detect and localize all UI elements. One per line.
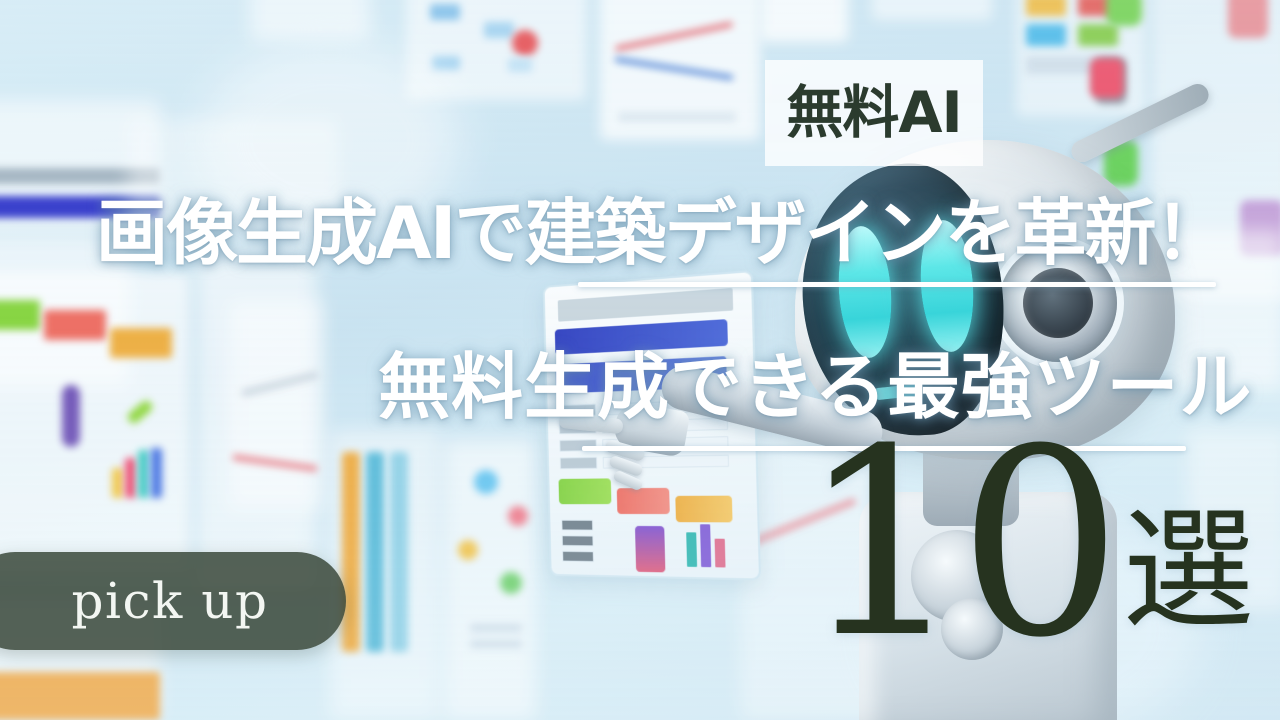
bg-panel [228,300,324,510]
bg-node [432,56,460,70]
bg-widget [1090,58,1124,98]
bg-node [484,22,514,38]
headline-line-1: 画像生成AIで建築デザインを革新！ [96,197,1225,269]
bg-widget [1026,24,1066,46]
bg-node [500,572,522,594]
bg-node [458,540,478,560]
bg-row [342,452,360,652]
category-tag: 無料AI [765,60,983,166]
pickup-badge-label: pick up [72,576,269,626]
count-badge-number: 10 [800,436,1116,653]
bg-panel [250,0,370,40]
bg-widget [1106,0,1142,26]
bg-chart-bar [138,450,149,498]
bg-row [390,452,408,652]
thumbnail-canvas: 無料AI 画像生成AIで建築デザインを革新！ 無料生成できる最強ツール 10 選… [0,0,1280,720]
bg-tab-red [44,310,106,340]
category-tag-label: 無料AI [786,85,961,142]
bg-node [508,506,528,526]
dashboard-tab-red [617,488,670,514]
bg-node [430,4,460,20]
dashboard-tab-green [558,478,611,504]
bg-chart-bar [125,458,136,498]
bg-node [508,58,532,72]
count-badge-unit: 選 [1122,505,1254,637]
count-badge: 10 選 [800,436,1254,653]
bg-widget [1228,0,1268,38]
bg-bar [618,112,736,122]
bg-chart-bar [151,448,162,498]
bg-row [366,452,384,652]
bg-node-alert [512,30,538,56]
bg-panel [872,0,992,20]
bg-node [474,470,498,494]
bg-widget [1026,0,1066,16]
robot-ear-core [1023,268,1093,338]
bg-tab-orange [110,328,172,358]
bg-chart-bar [112,468,123,498]
bg-panel [760,0,848,42]
bg-tab-green [0,300,40,330]
pickup-badge: pick up [0,552,346,650]
bg-widget [1078,24,1118,46]
bg-chart-blob [62,385,80,447]
dashboard-tab-orange [675,496,732,523]
bg-row [470,624,522,632]
bg-row [470,640,522,648]
bg-bar [0,672,160,720]
headline-rule-1 [578,282,1216,287]
